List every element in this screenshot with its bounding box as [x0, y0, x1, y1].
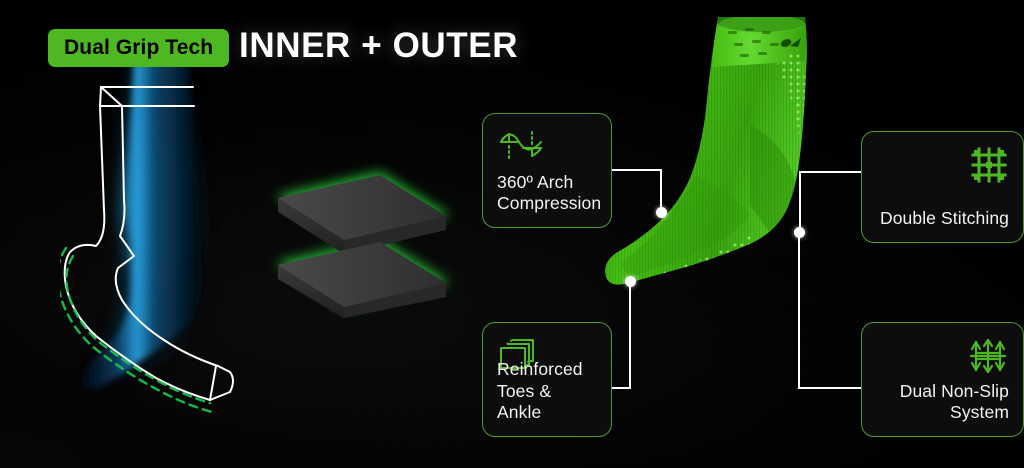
arch-compression-icon [498, 128, 544, 167]
feature-card-double-stitching[interactable]: Double Stitching [861, 131, 1024, 243]
dual-grip-tech-badge: Dual Grip Tech [48, 29, 229, 67]
feature-label: Dual Non-Slip System [876, 381, 1009, 424]
woven-stitch-icon [970, 146, 1008, 189]
feature-card-arch-compression[interactable]: 360º Arch Compression [482, 113, 612, 228]
callout-dot-arch [656, 207, 667, 218]
feature-label: Reinforced Toes & Ankle [497, 359, 597, 424]
feature-card-dual-non-slip[interactable]: Dual Non-Slip System [861, 322, 1024, 437]
feature-label: 360º Arch Compression [497, 172, 597, 215]
page-title: INNER + OUTER [239, 28, 518, 63]
callout-dot-stitching [794, 227, 805, 238]
multi-direction-arrows-icon [968, 337, 1008, 380]
green-sock-photo [600, 5, 880, 325]
feature-label: Double Stitching [876, 208, 1009, 230]
callout-dot-toes [625, 276, 636, 287]
feature-card-reinforced-toes-ankle[interactable]: Reinforced Toes & Ankle [482, 322, 612, 437]
infographic-banner: 360º Arch Compression Reinforced Toes & … [0, 0, 1024, 468]
dual-grip-bars-illustration [268, 158, 468, 318]
